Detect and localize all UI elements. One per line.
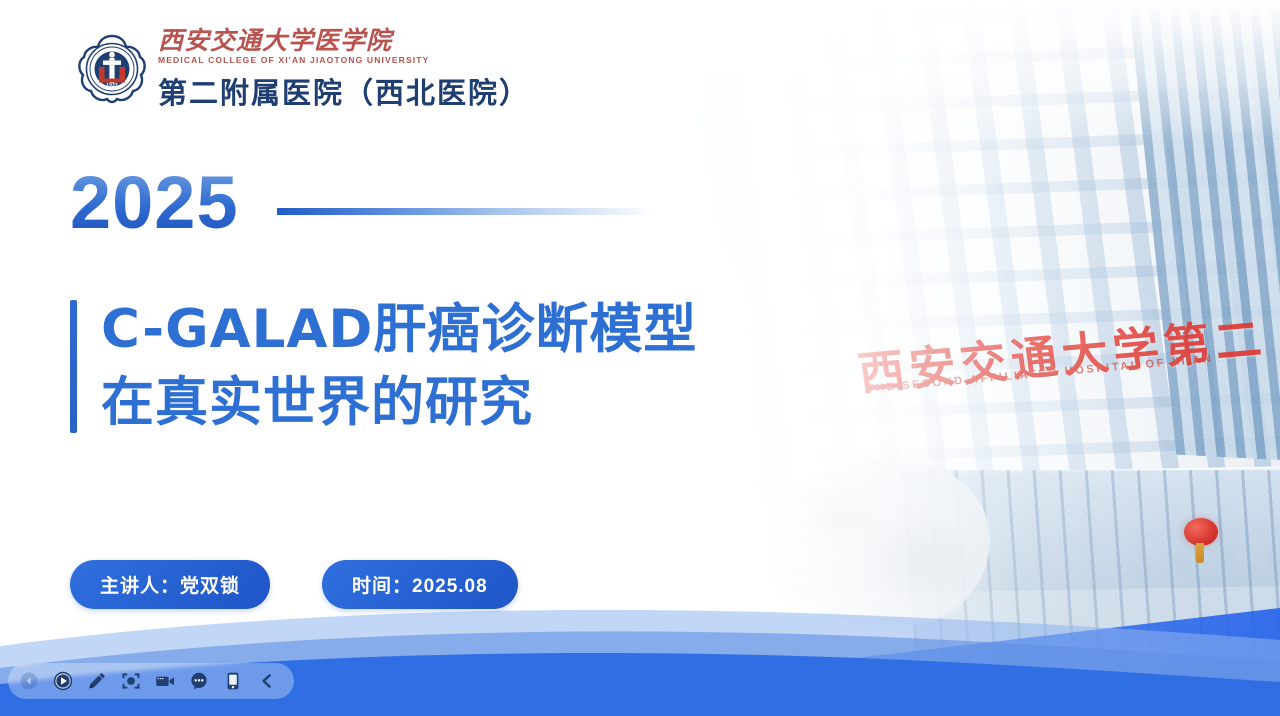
- title-accent-bar: [70, 300, 77, 433]
- slide-meta-pills: 主讲人：党双锁 时间：2025.08: [70, 560, 518, 609]
- red-lantern-icon: [1184, 518, 1218, 546]
- mobile-button[interactable]: mobile-phone-icon: [216, 664, 250, 698]
- year-label: 2025: [70, 166, 239, 240]
- title-lines: C-GALAD肝癌诊断模型 在真实世界的研究: [101, 300, 697, 433]
- bottom-wave-decoration: [0, 606, 1280, 716]
- presentation-slide: 西安交通大学第二 THE SECOND AFFILIATED HOSPITAL …: [0, 0, 1280, 716]
- year-row: 2025: [70, 166, 655, 240]
- previous-slide-button[interactable]: chevron-left-circle-icon: [12, 664, 46, 698]
- svg-text:1937: 1937: [106, 83, 118, 88]
- play-button[interactable]: play-circle-icon: [46, 664, 80, 698]
- logo-university-en: MEDICAL COLLEGE OF XI'AN JIAOTONG UNIVER…: [158, 55, 530, 65]
- logo-wordmark: 西安交通大学医学院 MEDICAL COLLEGE OF XI'AN JIAOT…: [158, 26, 530, 112]
- chat-button[interactable]: chat-bubble-icon: [182, 664, 216, 698]
- slide-toolbar[interactable]: chevron-left-circle-icon play-circle-ico…: [8, 663, 294, 699]
- record-button[interactable]: video-camera-icon: [148, 664, 182, 698]
- date-pill: 时间：2025.08: [322, 560, 518, 609]
- logo-university-cn: 西安交通大学医学院: [158, 28, 530, 54]
- title-line-1: C-GALAD肝癌诊断模型: [101, 300, 697, 359]
- hospital-building-photo: 西安交通大学第二 THE SECOND AFFILIATED HOSPITAL …: [660, 0, 1280, 680]
- title-line-2: 在真实世界的研究: [101, 373, 697, 432]
- stone-sculpture: [770, 460, 990, 625]
- year-divider-rule: [277, 208, 655, 215]
- screenshot-button[interactable]: crop-scan-icon: [114, 664, 148, 698]
- collapse-toolbar-button[interactable]: chevron-left-icon: [250, 664, 284, 698]
- xjtu-hospital-emblem-icon: 1937: [76, 33, 148, 105]
- hospital-logo: 1937 西安交通大学医学院 MEDICAL COLLEGE OF XI'AN …: [76, 26, 530, 112]
- speaker-pill: 主讲人：党双锁: [70, 560, 270, 609]
- logo-hospital-name: 第二附属医院（西北医院）: [158, 70, 530, 112]
- slide-title-block: C-GALAD肝癌诊断模型 在真实世界的研究: [70, 300, 697, 433]
- annotate-button[interactable]: pencil-icon: [80, 664, 114, 698]
